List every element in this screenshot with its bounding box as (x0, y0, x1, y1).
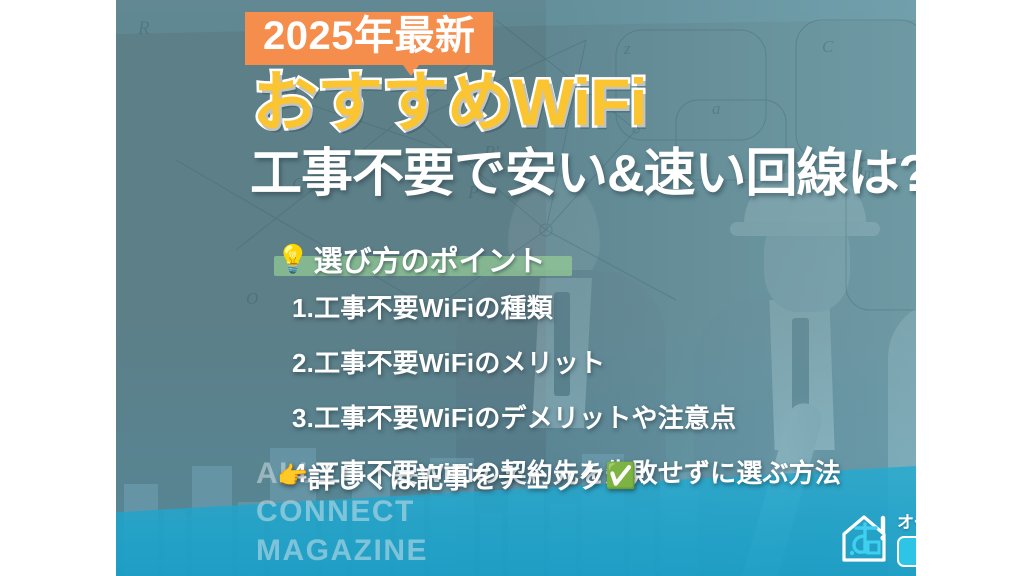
point-title-row: 💡 選び方のポイント (276, 238, 546, 280)
page-title: おすすめWiFi (252, 69, 647, 135)
house-with-o-character-icon (838, 512, 890, 564)
list-item: 2.工事不要WiFiのメリット (292, 343, 841, 380)
year-badge: 2025年最新 (245, 12, 493, 65)
green-check-mark-icon: ✅ (605, 462, 636, 491)
watermark-line-3: MAGAZINE (256, 532, 428, 570)
screenshot-canvas: R Q V P' C P z a C Im O ALL CONNECT MAGA… (0, 0, 1024, 576)
svg-text:a: a (712, 99, 721, 118)
pointing-right-hand-icon: 👉 (277, 462, 308, 491)
year-badge-label: 2025年最新 (263, 15, 475, 58)
svg-text:R: R (137, 18, 150, 39)
logo-name: オールコネクト (897, 508, 916, 533)
logo-wordmark: オールコネクト マガジン (897, 508, 916, 567)
cta-text: 詳しくは記事をチェック (308, 457, 605, 496)
page-subtitle: 工事不要で安い&速い回線は? (250, 148, 916, 200)
svg-text:O: O (246, 289, 258, 308)
brand-logo: オールコネクト マガジン (838, 508, 916, 567)
logo-badge: マガジン (897, 536, 916, 567)
svg-text:C: C (822, 37, 834, 56)
list-item: 1.工事不要WiFiの種類 (292, 288, 841, 325)
point-title: 選び方のポイント (314, 238, 546, 280)
list-item: 3.工事不要WiFiのデメリットや注意点 (292, 398, 841, 435)
svg-text:z: z (623, 39, 631, 58)
cta-row: 👉 詳しくは記事をチェック ✅ (277, 457, 636, 496)
article-thumbnail: R Q V P' C P z a C Im O ALL CONNECT MAGA… (116, 0, 916, 576)
lightbulb-icon: 💡 (276, 246, 310, 273)
